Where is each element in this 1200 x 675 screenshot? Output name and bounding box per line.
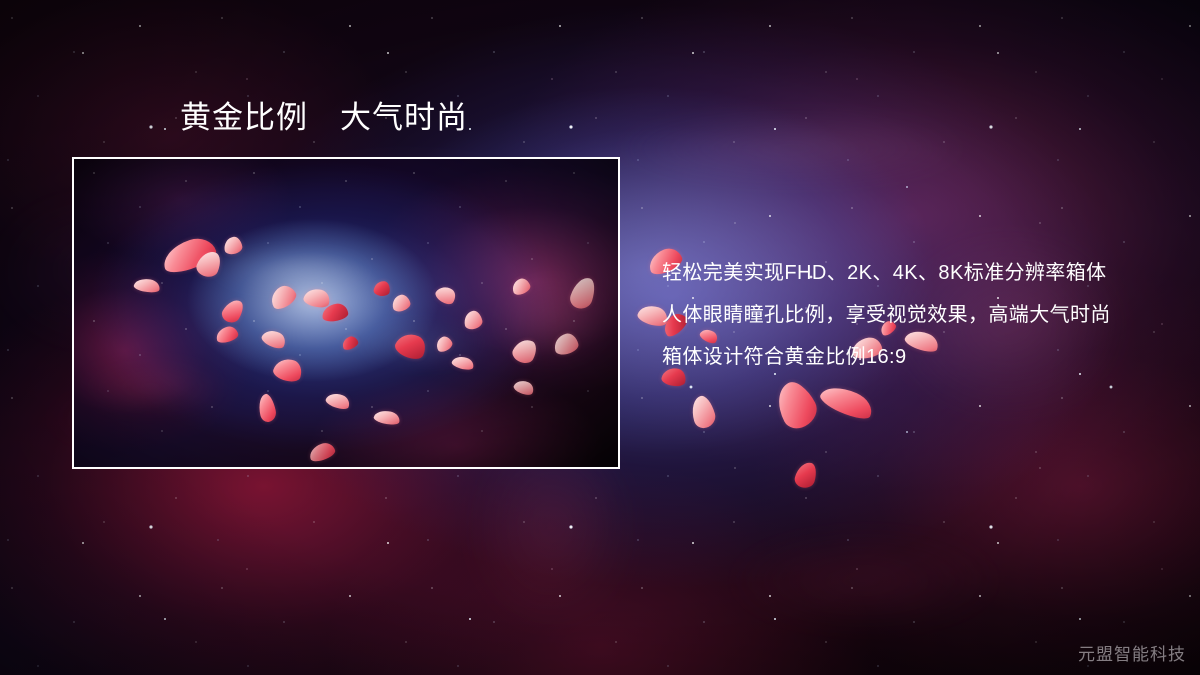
inner-vignette xyxy=(74,159,618,467)
body-text-line: 轻松完美实现FHD、2K、4K、8K标准分辨率箱体 xyxy=(662,252,1111,294)
petal-decoration xyxy=(793,460,819,491)
presentation-slide: 黄金比例 大气时尚 xyxy=(0,0,1200,675)
petal-decoration xyxy=(817,380,876,424)
watermark-label: 元盟智能科技 xyxy=(1078,640,1186,665)
body-text-line: 箱体设计符合黄金比例16:9 xyxy=(662,336,1111,378)
page-title: 黄金比例 大气时尚 xyxy=(180,102,468,133)
petal-decoration xyxy=(769,376,822,434)
framed-image xyxy=(72,157,620,469)
body-text-line: 人体眼睛瞳孔比例，享受视觉效果，高端大气时尚 xyxy=(662,294,1111,336)
framed-image-content xyxy=(74,159,618,467)
petal-decoration xyxy=(688,394,718,431)
body-text-block: 轻松完美实现FHD、2K、4K、8K标准分辨率箱体 人体眼睛瞳孔比例，享受视觉效… xyxy=(662,252,1111,378)
